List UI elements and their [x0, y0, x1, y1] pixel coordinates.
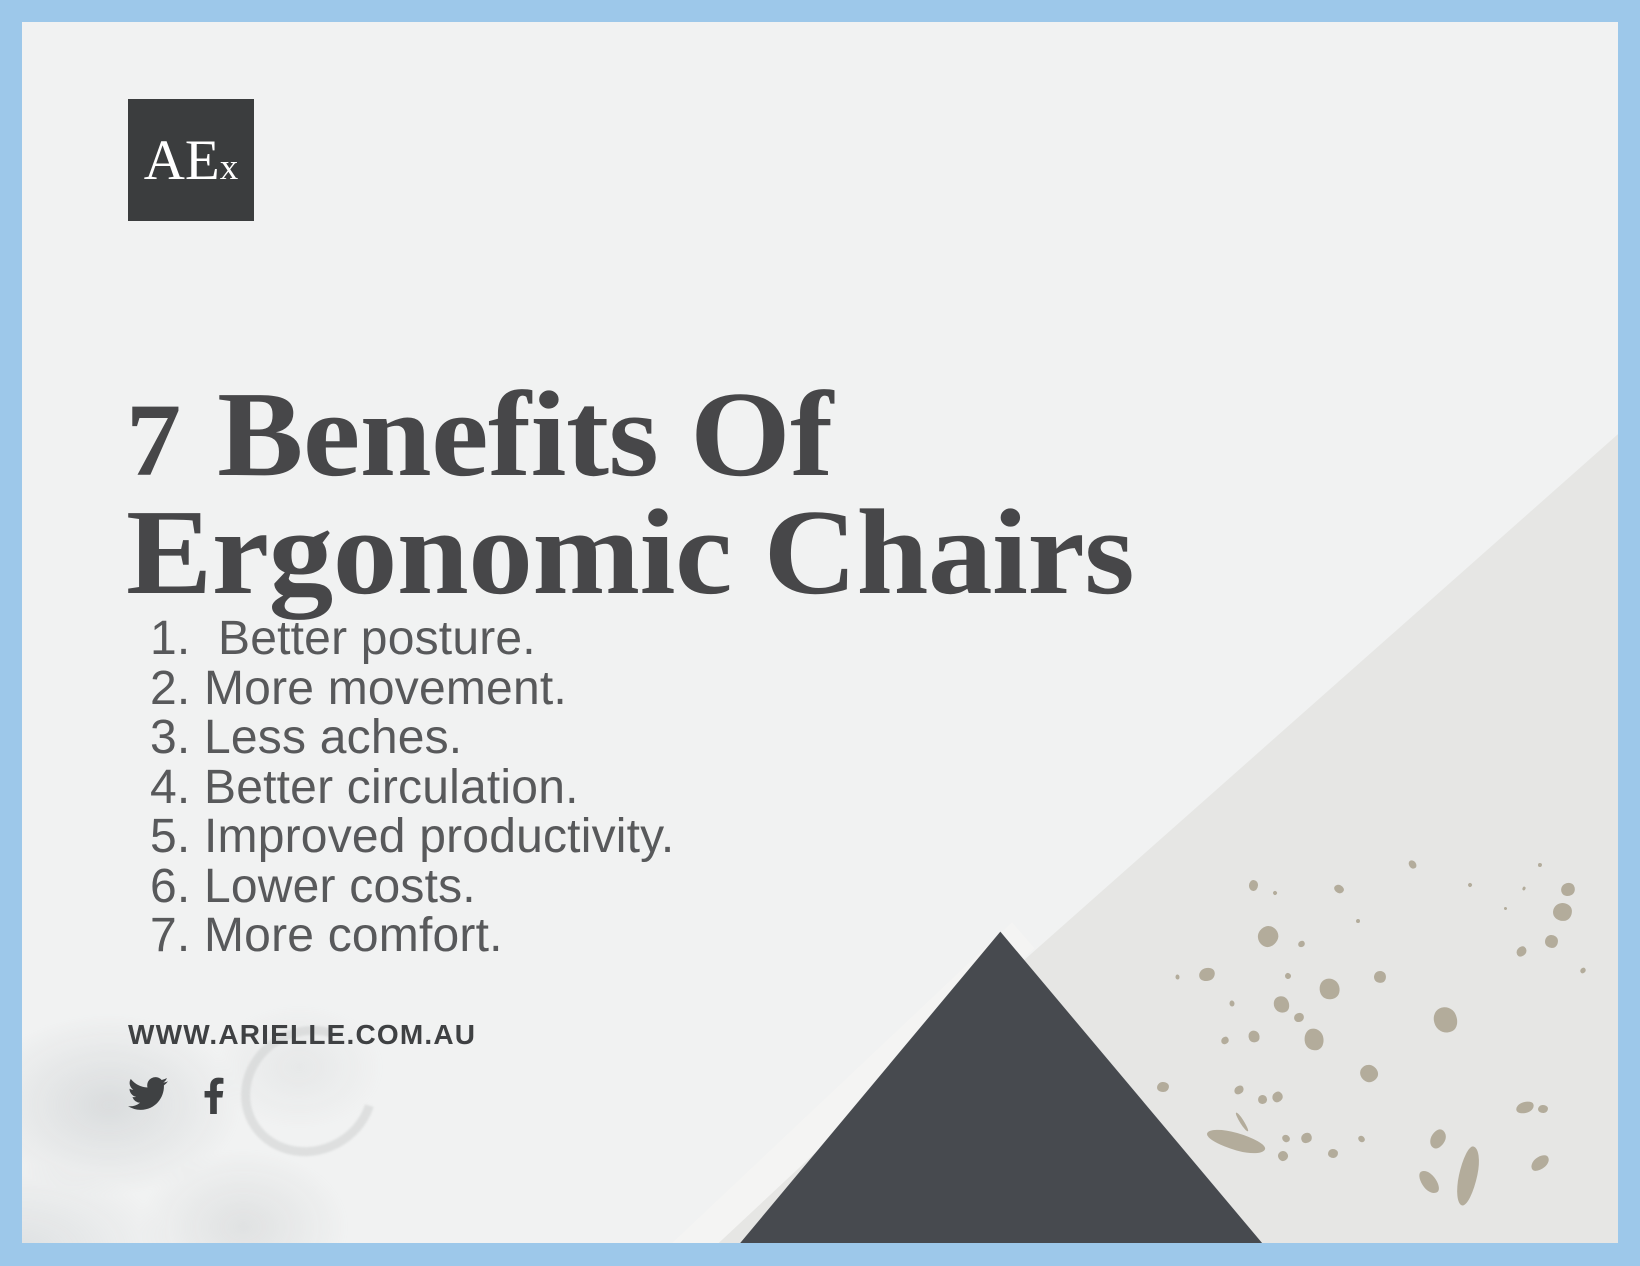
benefits-list: 1.Better posture.2.More movement.3.Less …: [150, 614, 674, 961]
paint-splatter: [1229, 1000, 1235, 1007]
paint-splatter: [1429, 1003, 1461, 1036]
watercolor-wash: [22, 953, 512, 1243]
paint-splatter: [1415, 1167, 1442, 1196]
benefit-item-index: 1.: [150, 614, 218, 664]
paint-splatter: [1559, 880, 1578, 898]
paint-splatter: [1515, 944, 1529, 958]
benefit-item-label: Better posture.: [218, 614, 536, 664]
paint-splatter: [1538, 1105, 1549, 1114]
paint-splatter: [1246, 1029, 1261, 1045]
benefit-item-label: More comfort.: [204, 911, 503, 961]
paint-splatter: [1357, 1062, 1381, 1086]
page-title: 7 Benefits Of Ergonomic Chairs: [126, 376, 1398, 613]
paint-splatter: [1281, 1133, 1292, 1143]
benefit-item-index: 6.: [150, 862, 204, 912]
paint-splatter: [1357, 1134, 1366, 1143]
paint-splatter: [1292, 1011, 1305, 1024]
benefit-item: 7.More comfort.: [150, 911, 674, 961]
paint-splatter: [1515, 1100, 1535, 1116]
paint-splatter: [1453, 1145, 1483, 1207]
paint-splatter: [1427, 1127, 1449, 1151]
paint-splatter: [1467, 882, 1473, 888]
benefit-item-label: Improved productivity.: [204, 812, 674, 862]
paint-splatter: [1257, 1094, 1269, 1106]
paint-splatter: [1254, 922, 1282, 950]
benefit-item: 2.More movement.: [150, 664, 674, 714]
paint-splatter: [1157, 1081, 1170, 1092]
benefit-item: 4.Better circulation.: [150, 763, 674, 813]
brand-logo-text: AEx: [144, 132, 238, 189]
infographic-canvas: AEx 7 Benefits Of Ergonomic Chairs 1.Bet…: [0, 0, 1640, 1266]
paint-splatter: [1579, 967, 1587, 975]
paint-splatter: [1522, 886, 1526, 891]
brand-logo: AEx: [128, 99, 254, 221]
infographic-card: AEx 7 Benefits Of Ergonomic Chairs 1.Bet…: [22, 22, 1618, 1243]
page-title-number: 7: [126, 383, 185, 498]
benefit-item: 6.Lower costs.: [150, 862, 674, 912]
paint-splatter: [1299, 1131, 1314, 1146]
benefit-item-label: Less aches.: [204, 713, 462, 763]
paint-splatter: [1333, 883, 1346, 895]
paint-splatter: [1234, 1112, 1249, 1133]
page-title-line-1-rest: Benefits Of: [185, 367, 832, 502]
paint-splatter: [1356, 919, 1360, 923]
benefit-item-index: 5.: [150, 812, 204, 862]
page-title-line-1: 7 Benefits Of: [126, 376, 1398, 494]
paint-splatter: [1328, 1149, 1338, 1158]
paint-splatter: [1205, 1125, 1267, 1158]
paint-splatter: [1284, 972, 1292, 980]
paint-splatter: [1233, 1084, 1246, 1097]
brand-logo-small: x: [220, 147, 239, 188]
paint-splatter: [1197, 966, 1216, 983]
paint-splatter: [1373, 970, 1388, 985]
paint-splatter: [1316, 975, 1343, 1002]
paint-splatter: [1220, 1035, 1231, 1046]
paint-splatter: [1249, 880, 1259, 892]
benefit-item-index: 4.: [150, 763, 204, 813]
paint-splatter: [1175, 974, 1179, 979]
page-title-line-2: Ergonomic Chairs: [126, 494, 1398, 612]
paint-splatter: [1544, 934, 1558, 948]
benefit-item-index: 7.: [150, 911, 204, 961]
paint-splatter: [1270, 1090, 1285, 1105]
facebook-icon[interactable]: [202, 1074, 224, 1119]
paint-splatter-group: [1098, 823, 1618, 1243]
paint-splatter: [1407, 859, 1418, 870]
social-links: [128, 1074, 224, 1119]
paint-splatter: [1503, 906, 1507, 910]
benefit-item-index: 2.: [150, 664, 204, 714]
twitter-icon[interactable]: [128, 1077, 168, 1116]
benefit-item: 5.Improved productivity.: [150, 812, 674, 862]
benefit-item-label: Better circulation.: [204, 763, 579, 813]
paint-splatter: [1271, 993, 1292, 1015]
brand-logo-main: AE: [144, 129, 220, 192]
website-url[interactable]: WWW.ARIELLE.COM.AU: [128, 1019, 476, 1051]
paint-splatter: [1297, 940, 1306, 949]
paint-splatter: [1538, 863, 1542, 867]
paint-splatter: [1552, 902, 1572, 922]
paint-splatter: [1276, 1149, 1290, 1163]
benefit-item: 3.Less aches.: [150, 713, 674, 763]
paint-splatter: [1528, 1152, 1551, 1174]
paint-splatter: [1302, 1027, 1326, 1053]
benefit-item-label: Lower costs.: [204, 862, 476, 912]
benefit-item-index: 3.: [150, 713, 204, 763]
paint-splatter: [1272, 890, 1278, 896]
benefit-item-label: More movement.: [204, 664, 567, 714]
benefit-item: 1.Better posture.: [150, 614, 674, 664]
